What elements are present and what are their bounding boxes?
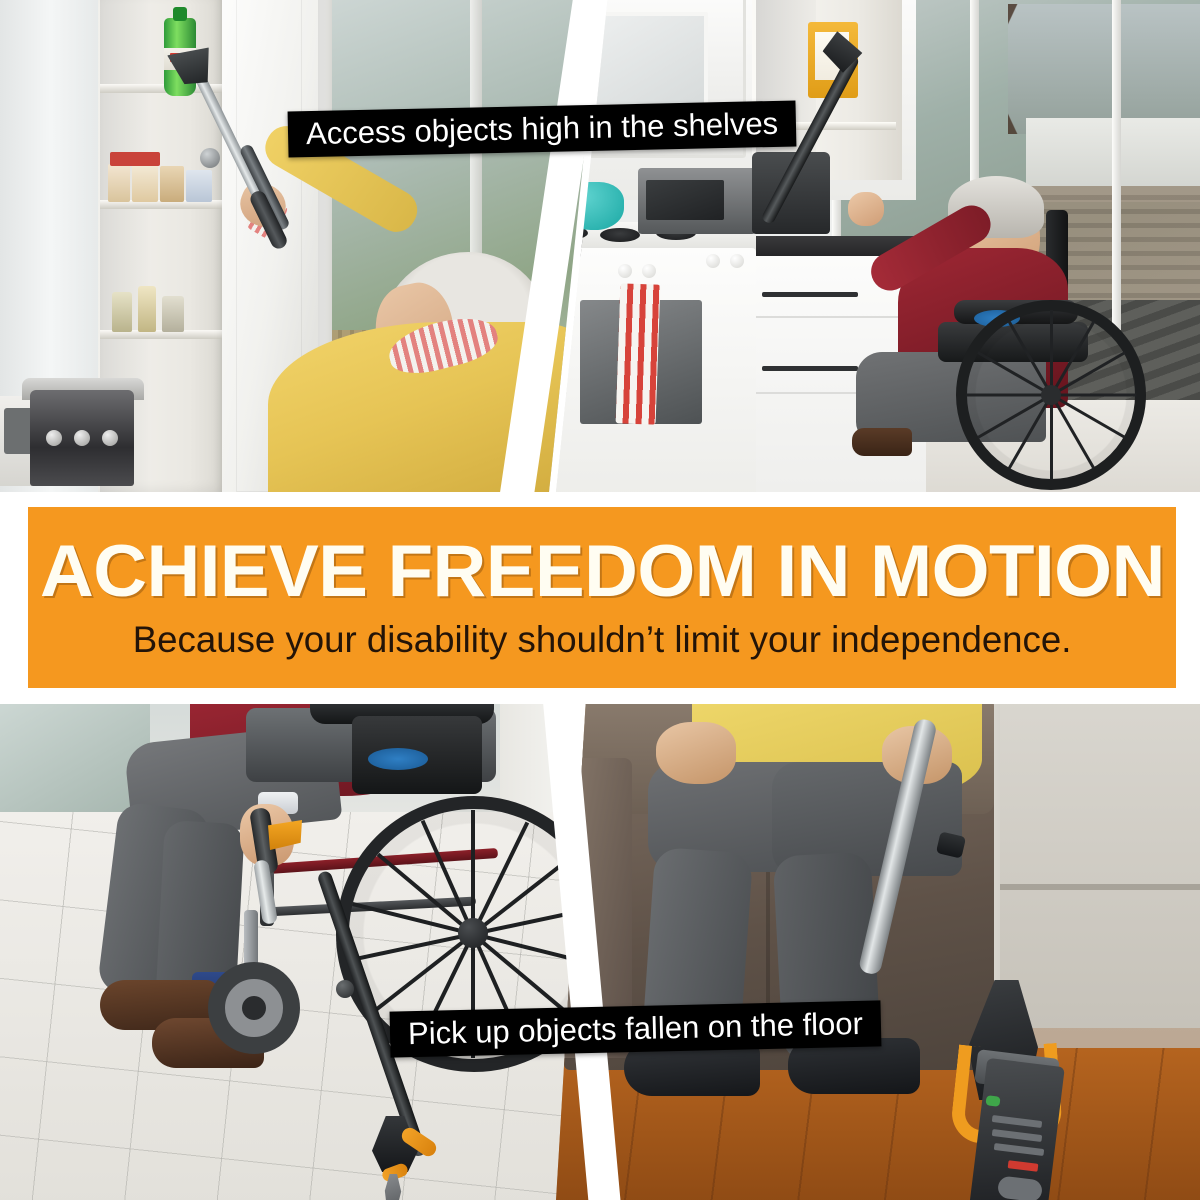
wheel-hub <box>458 918 488 948</box>
shelf-bottle <box>112 292 132 332</box>
man-shoe <box>852 428 912 456</box>
stove-knob <box>618 264 632 278</box>
banner-subtitle: Because your disability shouldn’t limit … <box>133 620 1072 661</box>
shelf-bottle <box>138 286 156 332</box>
wheel-hub <box>1041 385 1061 405</box>
pergola-outside <box>1008 4 1200 134</box>
man-hand <box>848 192 884 226</box>
remote-power-button[interactable] <box>985 1095 1000 1107</box>
stove-burner <box>600 228 640 242</box>
reacher-joint <box>336 980 354 998</box>
photo-man-wheelchair-keys <box>0 704 600 1200</box>
castor-hub <box>242 996 266 1020</box>
window-mullion <box>1112 0 1121 330</box>
stove-knob <box>642 264 656 278</box>
panel-bottom-left <box>0 704 600 1200</box>
wall-trim <box>976 884 1200 890</box>
banner-headline: ACHIEVE FREEDOM IN MOTION <box>40 535 1165 608</box>
shelf-package <box>132 160 158 202</box>
stove-knob <box>706 254 720 268</box>
photo-person-sofa-remote <box>556 704 1200 1200</box>
invacare-logo <box>368 748 428 770</box>
shelf-package-label <box>110 152 160 166</box>
appliance-knob <box>46 430 62 446</box>
panel-top-right <box>556 0 1200 492</box>
photo-man-wheelchair-cabinet <box>556 0 1200 492</box>
shelf-package <box>108 164 130 202</box>
shelf-package <box>160 166 184 202</box>
toaster-oven <box>638 168 756 234</box>
drawer-handle[interactable] <box>762 366 858 371</box>
appliance-knob <box>102 430 118 446</box>
striped-kitchen-towel <box>616 283 661 424</box>
orange-banner: ACHIEVE FREEDOM IN MOTION Because your d… <box>28 507 1176 688</box>
reacher-joint <box>200 148 220 168</box>
person-hand-resting <box>656 722 736 784</box>
panel-bottom-right <box>556 704 1200 1200</box>
wall-right <box>976 704 1200 1028</box>
appliance-knob <box>74 430 90 446</box>
drawer-handle[interactable] <box>762 292 858 297</box>
stove-knob <box>730 254 744 268</box>
shelf-package <box>186 170 212 202</box>
poster-root: ACHIEVE FREEDOM IN MOTION Because your d… <box>0 0 1200 1200</box>
shelf-bottle <box>162 296 184 332</box>
